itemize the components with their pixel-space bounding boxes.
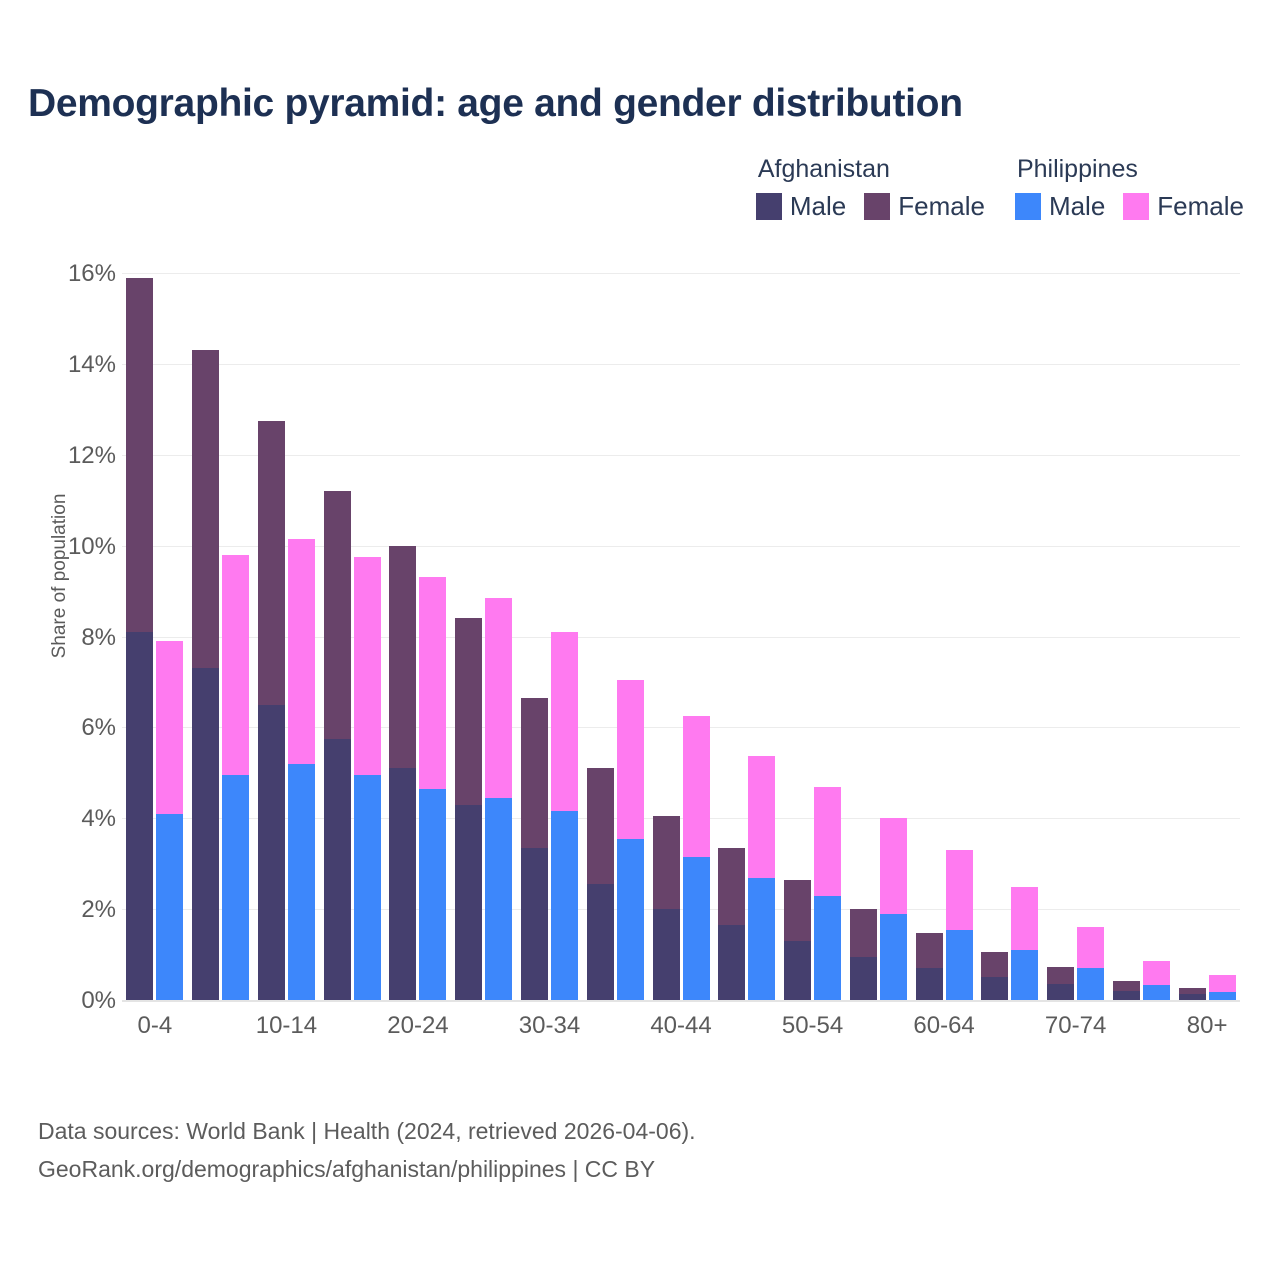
bar-segment-afghanistan-female[interactable] (192, 350, 219, 668)
bar-segment-philippines-male[interactable] (1143, 985, 1170, 1000)
y-axis-tick-label: 6% (6, 714, 116, 742)
bar-segment-afghanistan-female[interactable] (455, 618, 482, 804)
bar-segment-philippines-female[interactable] (222, 555, 249, 775)
bar-segment-afghanistan-male[interactable] (718, 925, 745, 1000)
bar-segment-afghanistan-female[interactable] (784, 880, 811, 941)
x-axis-tick-label: 20-24 (387, 1012, 448, 1039)
bar-series-container (122, 273, 1240, 1000)
x-axis-cell-75-79 (1108, 1012, 1174, 1040)
x-axis-cell-40-44: 40-44 (648, 1012, 714, 1040)
x-axis-cell-0-4: 0-4 (122, 1012, 188, 1040)
bar-segment-afghanistan-male[interactable] (1113, 991, 1140, 1000)
y-axis-tick-label: 8% (6, 624, 116, 652)
plot-area: 0%2%4%6%8%10%12%14%16% (122, 273, 1240, 1000)
x-axis-cell-65-69 (977, 1012, 1043, 1040)
bar-segment-philippines-female[interactable] (748, 756, 775, 879)
chart-page: Demographic pyramid: age and gender dist… (0, 0, 1280, 1280)
y-axis-tick-label: 16% (6, 260, 116, 288)
chart-footer: Data sources: World Bank | Health (2024,… (38, 1112, 696, 1188)
bar-segment-philippines-female[interactable] (683, 716, 710, 857)
age-group-70-74 (1043, 273, 1109, 1000)
bar-segment-afghanistan-male[interactable] (455, 805, 482, 1000)
footer-data-sources: Data sources: World Bank | Health (2024,… (38, 1112, 696, 1150)
bar-stack-philippines-60-64[interactable] (946, 850, 973, 1000)
bar-segment-afghanistan-male[interactable] (1179, 994, 1206, 1000)
age-group-80+ (1174, 273, 1240, 1000)
bar-stack-afghanistan-65-69[interactable] (981, 952, 1008, 1000)
age-group-20-24 (385, 273, 451, 1000)
bar-stack-philippines-20-24[interactable] (419, 577, 446, 1000)
bar-stack-afghanistan-15-19[interactable] (324, 491, 351, 1000)
bar-stack-philippines-55-59[interactable] (880, 818, 907, 1000)
bar-segment-philippines-male[interactable] (419, 789, 446, 1000)
y-axis-tick-label: 0% (6, 987, 116, 1015)
bar-stack-philippines-30-34[interactable] (551, 632, 578, 1000)
age-group-5-9 (188, 273, 254, 1000)
bar-stack-philippines-25-29[interactable] (485, 598, 512, 1000)
bar-segment-philippines-male[interactable] (880, 914, 907, 1000)
bar-segment-afghanistan-female[interactable] (587, 768, 614, 884)
x-axis-tick-label: 30-34 (519, 1012, 580, 1039)
bar-segment-afghanistan-male[interactable] (324, 739, 351, 1000)
x-axis-cell-45-49 (714, 1012, 780, 1040)
bar-segment-afghanistan-female[interactable] (258, 421, 285, 705)
bar-stack-afghanistan-30-34[interactable] (521, 698, 548, 1000)
bar-stack-afghanistan-75-79[interactable] (1113, 981, 1140, 1000)
x-axis-cell-35-39 (582, 1012, 648, 1040)
y-axis-tick-label: 2% (6, 896, 116, 924)
bar-segment-philippines-male[interactable] (814, 896, 841, 1001)
bar-segment-philippines-male[interactable] (946, 930, 973, 1000)
x-axis-tick-label: 0-4 (138, 1012, 173, 1039)
bar-segment-afghanistan-female[interactable] (521, 698, 548, 848)
bar-segment-afghanistan-female[interactable] (981, 952, 1008, 977)
x-axis-cell-10-14: 10-14 (254, 1012, 320, 1040)
bar-segment-afghanistan-female[interactable] (1113, 981, 1140, 991)
age-group-15-19 (319, 273, 385, 1000)
bar-segment-philippines-male[interactable] (222, 775, 249, 1000)
bar-stack-afghanistan-60-64[interactable] (916, 933, 943, 1000)
x-axis-cell-80+: 80+ (1174, 1012, 1240, 1040)
bar-segment-philippines-female[interactable] (814, 787, 841, 895)
age-group-75-79 (1108, 273, 1174, 1000)
bar-segment-philippines-male[interactable] (1077, 968, 1104, 1000)
y-axis-tick-label: 14% (6, 351, 116, 379)
bar-stack-philippines-35-39[interactable] (617, 680, 644, 1000)
bar-stack-philippines-5-9[interactable] (222, 555, 249, 1000)
x-axis-cell-70-74: 70-74 (1043, 1012, 1109, 1040)
bar-stack-afghanistan-20-24[interactable] (389, 546, 416, 1000)
x-axis-cell-5-9 (188, 1012, 254, 1040)
bar-segment-philippines-male[interactable] (156, 814, 183, 1000)
bar-segment-afghanistan-female[interactable] (718, 848, 745, 925)
bar-segment-philippines-female[interactable] (551, 632, 578, 811)
bar-stack-philippines-75-79[interactable] (1143, 961, 1170, 1000)
x-axis-labels: 0-410-1420-2430-3440-4450-5460-6470-7480… (122, 1012, 1240, 1040)
x-axis-tick-label: 60-64 (913, 1012, 974, 1039)
bar-stack-afghanistan-80+[interactable] (1179, 988, 1206, 1000)
age-group-35-39 (582, 273, 648, 1000)
bar-segment-philippines-male[interactable] (617, 839, 644, 1000)
bar-segment-afghanistan-female[interactable] (916, 933, 943, 968)
bar-segment-afghanistan-male[interactable] (126, 632, 153, 1000)
bar-segment-afghanistan-male[interactable] (981, 977, 1008, 1000)
bar-stack-philippines-40-44[interactable] (683, 716, 710, 1000)
bar-stack-philippines-10-14[interactable] (288, 539, 315, 1000)
bar-segment-afghanistan-male[interactable] (850, 957, 877, 1000)
bar-segment-philippines-male[interactable] (748, 878, 775, 1000)
bar-segment-afghanistan-male[interactable] (587, 884, 614, 1000)
bar-stack-afghanistan-5-9[interactable] (192, 350, 219, 1000)
bar-segment-afghanistan-male[interactable] (784, 941, 811, 1000)
bar-segment-philippines-female[interactable] (880, 818, 907, 913)
bar-segment-philippines-female[interactable] (617, 680, 644, 839)
bar-segment-afghanistan-male[interactable] (521, 848, 548, 1000)
bar-segment-afghanistan-female[interactable] (850, 909, 877, 957)
age-group-10-14 (254, 273, 320, 1000)
x-axis-tick-label: 10-14 (256, 1012, 317, 1039)
age-group-60-64 (911, 273, 977, 1000)
bar-segment-philippines-male[interactable] (1011, 950, 1038, 1000)
bar-segment-afghanistan-male[interactable] (258, 705, 285, 1000)
bar-segment-afghanistan-female[interactable] (389, 546, 416, 769)
bar-segment-philippines-male[interactable] (485, 798, 512, 1000)
bar-stack-afghanistan-35-39[interactable] (587, 768, 614, 1000)
bar-stack-philippines-0-4[interactable] (156, 641, 183, 1000)
x-axis-cell-15-19 (319, 1012, 385, 1040)
x-axis-cell-25-29 (451, 1012, 517, 1040)
bar-stack-afghanistan-25-29[interactable] (455, 618, 482, 1000)
bar-segment-afghanistan-female[interactable] (653, 816, 680, 909)
x-axis-tick-label: 40-44 (650, 1012, 711, 1039)
bar-segment-philippines-male[interactable] (683, 857, 710, 1000)
age-group-50-54 (780, 273, 846, 1000)
bar-stack-afghanistan-0-4[interactable] (126, 278, 153, 1000)
age-group-45-49 (714, 273, 780, 1000)
age-group-0-4 (122, 273, 188, 1000)
y-axis-tick-label: 12% (6, 442, 116, 470)
y-axis-tick-label: 10% (6, 533, 116, 561)
bar-stack-philippines-45-49[interactable] (748, 756, 775, 1000)
x-axis-cell-30-34: 30-34 (517, 1012, 583, 1040)
x-axis-cell-55-59 (845, 1012, 911, 1040)
bar-stack-afghanistan-10-14[interactable] (258, 421, 285, 1000)
bar-stack-philippines-80+[interactable] (1209, 975, 1236, 1000)
bar-segment-philippines-female[interactable] (1011, 887, 1038, 950)
x-axis-cell-50-54: 50-54 (780, 1012, 846, 1040)
bar-segment-philippines-male[interactable] (354, 775, 381, 1000)
bar-stack-afghanistan-40-44[interactable] (653, 816, 680, 1000)
bar-segment-philippines-female[interactable] (1209, 975, 1236, 992)
age-group-65-69 (977, 273, 1043, 1000)
bar-segment-philippines-male[interactable] (288, 764, 315, 1000)
bar-segment-philippines-female[interactable] (419, 577, 446, 788)
bar-segment-afghanistan-male[interactable] (916, 968, 943, 1000)
bar-segment-philippines-female[interactable] (354, 557, 381, 775)
bar-segment-afghanistan-female[interactable] (324, 491, 351, 739)
bar-segment-afghanistan-male[interactable] (389, 768, 416, 1000)
x-axis-cell-60-64: 60-64 (911, 1012, 977, 1040)
age-group-55-59 (845, 273, 911, 1000)
bar-segment-afghanistan-female[interactable] (1047, 967, 1074, 984)
y-axis-tick-label: 4% (6, 805, 116, 833)
bar-stack-afghanistan-70-74[interactable] (1047, 967, 1074, 1000)
bar-stack-philippines-50-54[interactable] (814, 787, 841, 1000)
bar-stack-afghanistan-50-54[interactable] (784, 880, 811, 1000)
age-group-40-44 (648, 273, 714, 1000)
plot-wrapper: Share of population 0%2%4%6%8%10%12%14%1… (0, 0, 1280, 1280)
footer-attribution: GeoRank.org/demographics/afghanistan/phi… (38, 1150, 696, 1188)
bar-segment-afghanistan-male[interactable] (1047, 984, 1074, 1000)
bar-segment-philippines-female[interactable] (288, 539, 315, 764)
bar-segment-philippines-female[interactable] (1077, 927, 1104, 968)
x-axis-tick-label: 50-54 (782, 1012, 843, 1039)
bar-stack-philippines-65-69[interactable] (1011, 887, 1038, 1000)
bar-segment-philippines-male[interactable] (1209, 992, 1236, 1000)
gridline-0% (122, 1000, 1240, 1002)
bar-segment-philippines-female[interactable] (485, 598, 512, 798)
x-axis-tick-label: 80+ (1187, 1012, 1228, 1039)
bar-segment-philippines-female[interactable] (156, 641, 183, 814)
age-group-25-29 (451, 273, 517, 1000)
x-axis-cell-20-24: 20-24 (385, 1012, 451, 1040)
bar-segment-afghanistan-male[interactable] (653, 909, 680, 1000)
bar-segment-philippines-female[interactable] (946, 850, 973, 931)
bar-stack-afghanistan-55-59[interactable] (850, 909, 877, 1000)
bar-segment-afghanistan-male[interactable] (192, 668, 219, 1000)
x-axis-tick-label: 70-74 (1045, 1012, 1106, 1039)
bar-stack-afghanistan-45-49[interactable] (718, 848, 745, 1000)
age-group-30-34 (517, 273, 583, 1000)
bar-segment-afghanistan-female[interactable] (126, 278, 153, 632)
bar-stack-philippines-15-19[interactable] (354, 557, 381, 1000)
bar-segment-philippines-female[interactable] (1143, 961, 1170, 985)
bar-stack-philippines-70-74[interactable] (1077, 927, 1104, 1000)
bar-segment-philippines-male[interactable] (551, 811, 578, 1000)
